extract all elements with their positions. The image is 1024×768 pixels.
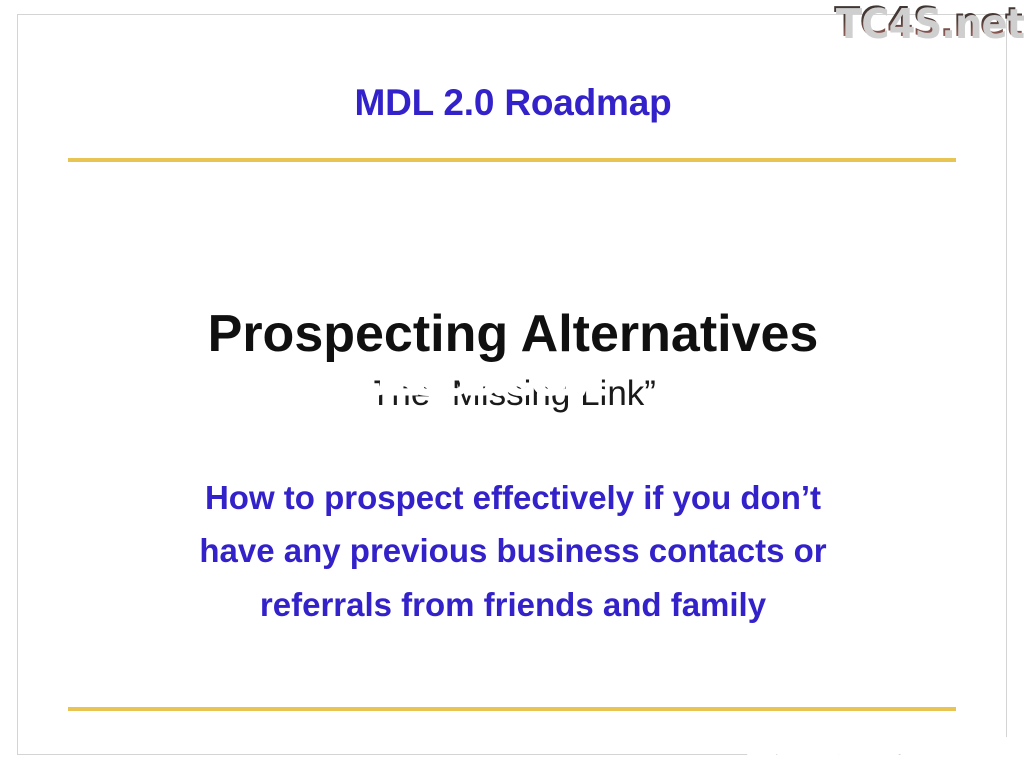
body-line: How to prospect effectively if you don’t (113, 471, 913, 524)
watermark-dlsub: DLSUB.COM (361, 360, 602, 400)
divider-bottom (68, 707, 956, 711)
main-heading: Prospecting Alternatives (18, 307, 1008, 362)
watermark-tradersxtreme: TradersXtreme.com (745, 729, 1020, 762)
body-paragraph: How to prospect effectively if you don’t… (113, 471, 913, 631)
slide-canvas: MDL 2.0 Roadmap Prospecting Alternatives… (0, 0, 1024, 768)
divider-top (68, 158, 956, 162)
watermark-tc4s: TC4S.net (834, 2, 1022, 43)
body-line: have any previous business contacts or (113, 524, 913, 577)
body-line: referrals from friends and family (113, 578, 913, 631)
slide-title: MDL 2.0 Roadmap (18, 83, 1008, 124)
